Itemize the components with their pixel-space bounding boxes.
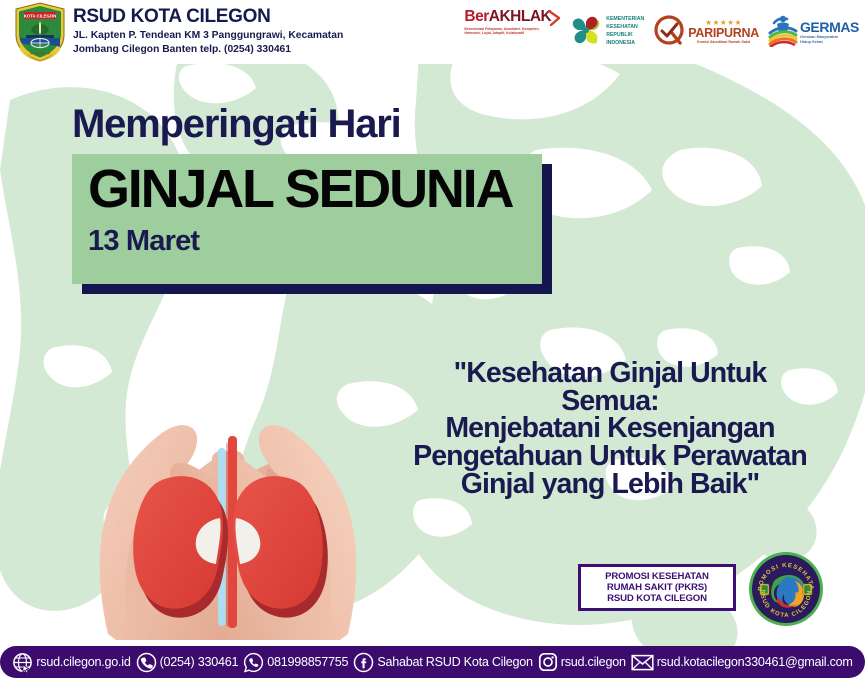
hospital-address-line-1: JL. Kapten P. Tendean KM 3 Panggungrawi,…: [73, 29, 343, 43]
title-eyebrow: Memperingati Hari: [72, 104, 542, 144]
poster-header: KOTA CILEGON AKUR SEDULUR RSUD KOTA CILE…: [0, 0, 865, 64]
pkrs-circular-logo-icon: PROMOSI KESEHATAN RSUD KOTA CILEGON: [748, 551, 824, 627]
hospital-address-line-2: Jombang Cilegon Banten telp. (0254) 3304…: [73, 43, 343, 57]
title-band: GINJAL SEDUNIA 13 Maret: [72, 154, 542, 284]
berakhlak-chevron-icon: [548, 10, 560, 31]
contact-footer-bar: rsud.cilegon.go.id (0254) 330461 0819988…: [0, 646, 865, 678]
quote-line-4: Pengetahuan Untuk Perawatan: [360, 443, 860, 471]
poster-canvas: KOTA CILEGON AKUR SEDULUR RSUD KOTA CILE…: [0, 0, 865, 681]
contact-email[interactable]: rsud.kotacilegon330461@gmail.com: [631, 653, 853, 672]
quote-line-1: "Kesehatan Ginjal Untuk: [360, 360, 860, 388]
hospital-name: RSUD KOTA CILEGON: [73, 7, 343, 27]
hands-holding-paper-kidneys-illustration: [92, 332, 364, 640]
svg-text:KOTA CILEGON: KOTA CILEGON: [24, 14, 56, 19]
whatsapp-icon: [243, 652, 264, 673]
phone-text: (0254) 330461: [160, 655, 239, 669]
observance-date: 13 Maret: [88, 227, 542, 256]
whatsapp-text: 081998857755: [267, 655, 348, 669]
contact-website[interactable]: rsud.cilegon.go.id: [12, 652, 130, 673]
kemenkes-line-3: REPUBLIK: [606, 32, 644, 40]
page-title: GINJAL SEDUNIA: [88, 160, 542, 218]
instagram-icon: [538, 652, 558, 672]
pkrs-line-3: RSUD KOTA CILEGON: [605, 593, 709, 604]
pkrs-line-1: PROMOSI KESEHATAN: [605, 571, 709, 582]
campaign-theme-quote: "Kesehatan Ginjal Untuk Semua: Menjebata…: [360, 360, 860, 498]
berakhlak-prefix: Ber: [464, 8, 488, 25]
berakhlak-logo: BerAKHLAK Berorientasi Pelayanan, Akunta…: [464, 9, 560, 55]
quote-line-5: Ginjal yang Lebih Baik": [360, 471, 860, 499]
quote-line-3: Menjebatani Kesenjangan: [360, 415, 860, 443]
quote-line-2: Semua:: [360, 388, 860, 416]
pkrs-line-2: RUMAH SAKIT (PKRS): [605, 582, 709, 593]
email-text: rsud.kotacilegon330461@gmail.com: [657, 655, 853, 669]
germas-figure-icon: [768, 13, 798, 52]
germas-wordmark: GERMAS: [800, 20, 859, 34]
cilegon-city-emblem-icon: KOTA CILEGON AKUR SEDULUR: [13, 2, 67, 62]
contact-phone[interactable]: (0254) 330461: [136, 652, 239, 673]
envelope-icon: [631, 653, 654, 672]
hospital-identity: RSUD KOTA CILEGON JL. Kapten P. Tendean …: [73, 7, 343, 57]
globe-icon: [12, 652, 33, 673]
svg-text:AKUR SEDULUR: AKUR SEDULUR: [30, 52, 51, 56]
kemenkes-wordmark: KEMENTERIAN KESEHATAN REPUBLIK INDONESIA: [606, 16, 644, 47]
berakhlak-main: AKHLAK: [489, 8, 551, 25]
partner-logo-strip: BerAKHLAK Berorientasi Pelayanan, Akunta…: [464, 8, 859, 56]
phone-icon: [136, 652, 157, 673]
contact-whatsapp[interactable]: 081998857755: [243, 652, 348, 673]
kidney-left: [133, 476, 228, 618]
kemenkes-logo: KEMENTERIAN KESEHATAN REPUBLIK INDONESIA: [569, 9, 644, 55]
instagram-text: rsud.cilegon: [561, 655, 626, 669]
paripurna-subtitle: Komisi Akreditasi Rumah Sakit: [697, 40, 750, 45]
pkrs-label-box: PROMOSI KESEHATAN RUMAH SAKIT (PKRS) RSU…: [578, 564, 736, 611]
germas-logo: GERMAS Gerakan Masyarakat Hidup Sehat: [768, 9, 859, 55]
paripurna-logo: ★★★★★ PARIPURNA Komisi Akreditasi Rumah …: [653, 9, 759, 55]
facebook-icon: [353, 652, 374, 673]
facebook-text: Sahabat RSUD Kota Cilegon: [377, 655, 532, 669]
berakhlak-subtitle: Berorientasi Pelayanan, Akuntabel, Kompe…: [464, 27, 548, 37]
paripurna-q-check-icon: [653, 14, 685, 51]
website-text: rsud.cilegon.go.id: [36, 655, 130, 669]
kemenkes-line-4: INDONESIA: [606, 40, 644, 48]
title-block: Memperingati Hari GINJAL SEDUNIA 13 Mare…: [72, 104, 542, 284]
kemenkes-line-2: KESEHATAN: [606, 24, 644, 32]
contact-facebook[interactable]: Sahabat RSUD Kota Cilegon: [353, 652, 532, 673]
contact-instagram[interactable]: rsud.cilegon: [538, 652, 626, 672]
kemenkes-line-1: KEMENTERIAN: [606, 16, 644, 24]
kemenkes-pinwheel-icon: [569, 13, 603, 52]
paripurna-wordmark: PARIPURNA: [688, 27, 759, 40]
germas-subtitle-2: Hidup Sehat: [800, 39, 823, 44]
